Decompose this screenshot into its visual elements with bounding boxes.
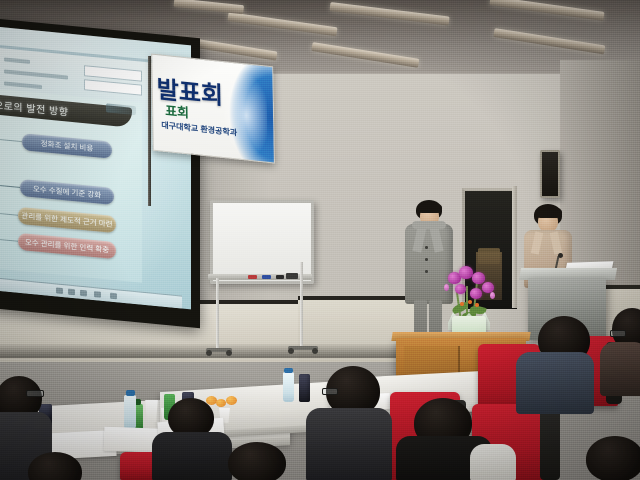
slide-pill: 정화조 설치 비용	[22, 133, 112, 159]
seat-side-panel	[540, 410, 560, 480]
taskbar-icon	[94, 291, 101, 298]
audience-head	[228, 442, 286, 480]
bottle-cap	[284, 368, 293, 373]
slide-pill: 오수 수질에 기준 강화	[20, 179, 114, 205]
water-bottle	[124, 395, 136, 429]
hair-fringe	[535, 206, 562, 218]
coat-collar	[412, 221, 446, 229]
orchid-bud	[490, 292, 495, 299]
orchid-bloom	[472, 272, 485, 284]
whiteboard-caster	[206, 350, 212, 356]
coat-button	[425, 270, 428, 273]
glasses-icon	[26, 390, 44, 397]
bottle-cap	[126, 390, 135, 396]
berry	[468, 300, 472, 304]
berry	[460, 302, 464, 306]
banner-pole	[148, 56, 151, 206]
whiteboard-caster	[226, 350, 232, 356]
taskbar-icon	[80, 290, 87, 297]
whiteboard-leg	[300, 262, 303, 348]
hair-fringe	[417, 202, 442, 213]
slide-pill: 관리를 위한 제도적 근거 마련	[18, 207, 116, 233]
berry	[475, 303, 479, 307]
water-bottle	[283, 372, 294, 402]
whiteboard-caster	[288, 348, 294, 354]
beverage-can	[299, 374, 310, 402]
marker-icon	[248, 275, 257, 279]
marker-icon	[276, 275, 284, 279]
audience-body	[306, 408, 392, 480]
event-banner: 발표회 표회 대구대학교 환경공학과	[151, 53, 275, 163]
taskbar-icon	[110, 293, 117, 300]
slide-connector	[0, 138, 24, 142]
audience-shoulder	[470, 444, 516, 480]
glasses-icon	[322, 388, 338, 395]
taskbar-icon	[68, 289, 75, 296]
audience-body	[152, 432, 232, 480]
audience-body	[600, 342, 640, 396]
taskbar-icon	[56, 287, 63, 294]
orange-snack	[226, 396, 237, 405]
whiteboard-caster	[312, 348, 318, 354]
whiteboard-leg	[216, 278, 219, 350]
door-jamb	[512, 186, 517, 308]
orchid-bloom	[470, 288, 482, 299]
photo-scene: 으로의 발전 방향 정화조 설치 비용 오수 수질에 기준 강화 관리를 위한 …	[0, 0, 640, 480]
audience-body	[516, 352, 594, 414]
audience-head	[586, 436, 640, 480]
coat-button	[425, 246, 428, 249]
orchid-bloom	[459, 266, 473, 279]
microphone-icon	[558, 253, 563, 258]
whiteboard	[210, 200, 314, 284]
presentation-slide: 으로의 발전 방향 정화조 설치 비용 오수 수질에 기준 강화 관리를 위한 …	[0, 88, 142, 282]
eraser-icon	[286, 273, 298, 279]
banner-subtitle: 표회	[165, 100, 189, 122]
slide-pill: 오수 관리를 위한 인력 확충	[18, 233, 116, 259]
marker-icon	[262, 275, 271, 279]
glasses-icon	[610, 330, 626, 337]
orchid-bloom	[455, 284, 466, 294]
orchid-bud	[444, 284, 449, 291]
orange-snack	[216, 399, 226, 407]
coat-button	[425, 258, 428, 261]
wall-speaker-icon	[540, 150, 560, 198]
overcoat	[405, 224, 453, 304]
